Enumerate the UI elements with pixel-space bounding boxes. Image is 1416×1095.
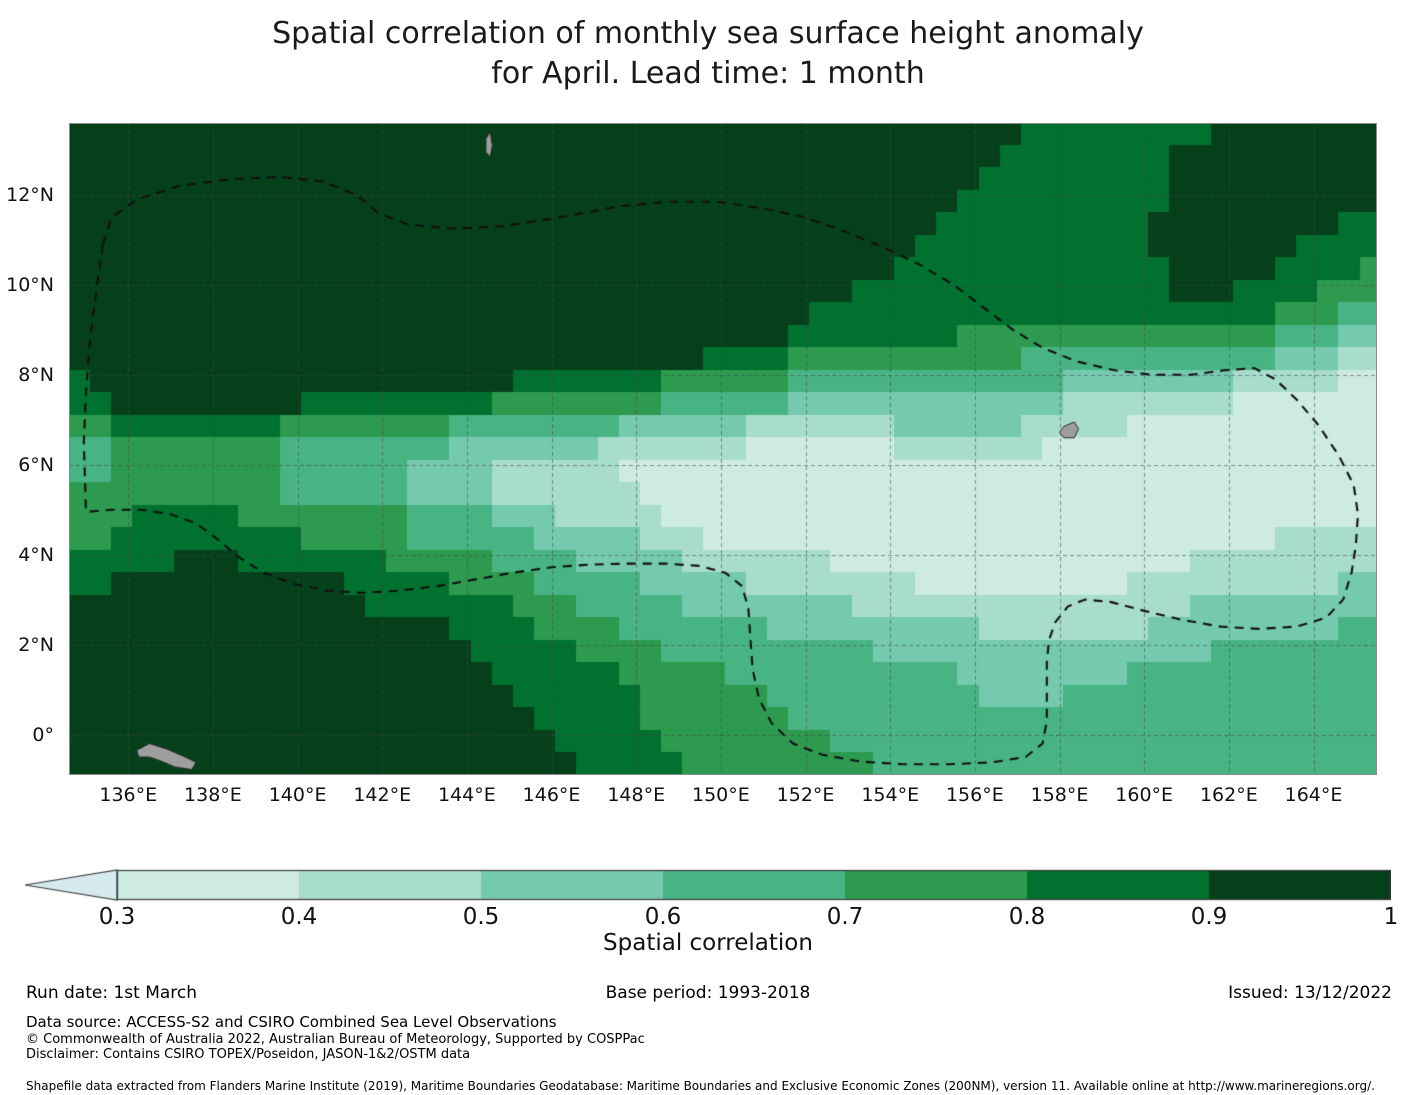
colorbar-tick-label: 0.8 — [967, 904, 1087, 930]
colorbar-tick-label: 0.7 — [785, 904, 905, 930]
colorbar-gradient — [25, 868, 1391, 902]
colorbar-tick-label: 0.9 — [1149, 904, 1269, 930]
latitude-tick-label: 4°N — [0, 544, 54, 566]
colorbar-tick-label: 1 — [1331, 904, 1416, 930]
colorbar-tick-label: 0.4 — [239, 904, 359, 930]
colorbar — [25, 868, 1391, 902]
latitude-tick-label: 6°N — [0, 454, 54, 476]
shapefile-credit-text: Shapefile data extracted from Flanders M… — [26, 1079, 1406, 1094]
data-source-text: Data source: ACCESS-S2 and CSIRO Combine… — [26, 1013, 1406, 1032]
copyright-text: © Commonwealth of Australia 2022, Austra… — [26, 1032, 1406, 1047]
colorbar-tick-label: 0.6 — [603, 904, 723, 930]
latitude-tick-label: 12°N — [0, 184, 54, 206]
disclaimer-text: Disclaimer: Contains CSIRO TOPEX/Poseido… — [26, 1047, 1406, 1062]
metadata-row: Run date: 1st March Base period: 1993-20… — [0, 983, 1416, 1007]
credits-block: Data source: ACCESS-S2 and CSIRO Combine… — [26, 1013, 1406, 1094]
latitude-tick-label: 8°N — [0, 364, 54, 386]
chart-title: Spatial correlation of monthly sea surfa… — [0, 14, 1416, 94]
longitude-tick-label: 164°E — [1234, 784, 1394, 806]
colorbar-tick-label: 0.5 — [421, 904, 541, 930]
latitude-tick-label: 0° — [0, 724, 54, 746]
map-plot-area — [69, 123, 1377, 775]
latitude-tick-label: 2°N — [0, 634, 54, 656]
colorbar-label: Spatial correlation — [0, 930, 1416, 956]
latitude-tick-label: 10°N — [0, 274, 54, 296]
issued-date: Issued: 13/12/2022 — [1228, 983, 1392, 1003]
correlation-heatmap — [69, 123, 1377, 775]
base-period: Base period: 1993-2018 — [0, 983, 1416, 1003]
colorbar-tick-label: 0.3 — [57, 904, 177, 930]
